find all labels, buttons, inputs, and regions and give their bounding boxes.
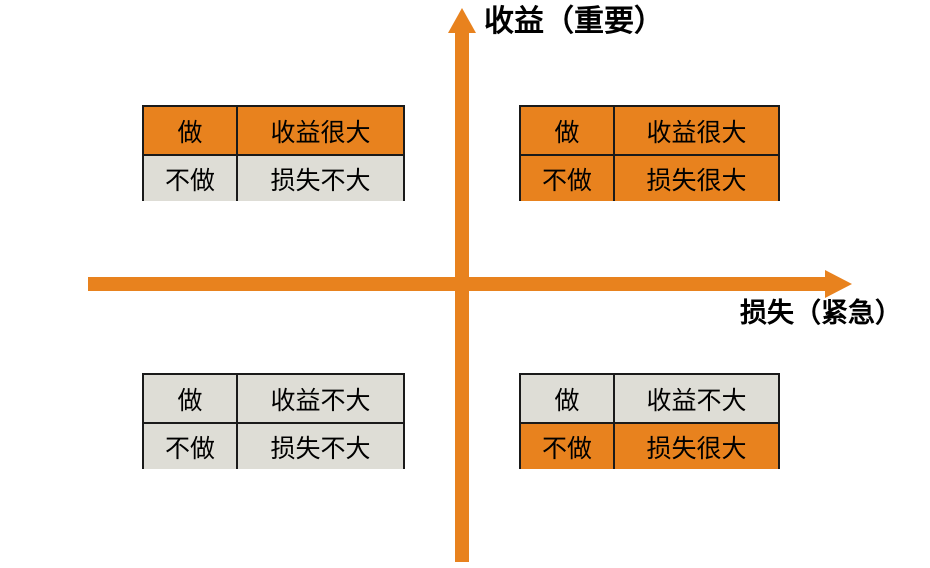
- quadrant-table-bottom-left: 做 收益不大 不做 损失不大: [142, 373, 405, 469]
- y-axis-line: [455, 22, 469, 562]
- table-row: 不做 损失很大: [521, 422, 778, 469]
- y-axis-arrowhead: [448, 8, 476, 33]
- action-cell: 做: [144, 375, 238, 422]
- outcome-cell: 损失不大: [238, 424, 403, 469]
- table-row: 不做 损失很大: [521, 154, 778, 201]
- outcome-cell: 收益不大: [238, 375, 403, 422]
- action-cell: 不做: [144, 424, 238, 469]
- table-row: 不做 损失不大: [144, 154, 403, 201]
- action-cell: 不做: [521, 156, 615, 201]
- outcome-cell: 损失不大: [238, 156, 403, 201]
- quadrant-table-bottom-right: 做 收益不大 不做 损失很大: [519, 373, 780, 469]
- quadrant-table-top-left: 做 收益很大 不做 损失不大: [142, 105, 405, 201]
- action-cell: 不做: [521, 424, 615, 469]
- quadrant-table-top-right: 做 收益很大 不做 损失很大: [519, 105, 780, 201]
- table-row: 做 收益很大: [521, 107, 778, 154]
- action-cell: 不做: [144, 156, 238, 201]
- x-axis-arrowhead: [825, 270, 852, 298]
- outcome-cell: 收益很大: [238, 107, 403, 154]
- outcome-cell: 损失很大: [615, 156, 778, 201]
- action-cell: 做: [144, 107, 238, 154]
- action-cell: 做: [521, 375, 615, 422]
- y-axis-title: 收益（重要）: [484, 4, 664, 40]
- outcome-cell: 损失很大: [615, 424, 778, 469]
- table-row: 做 收益不大: [521, 375, 778, 422]
- axes-group: [0, 0, 930, 568]
- outcome-cell: 收益不大: [615, 375, 778, 422]
- action-cell: 做: [521, 107, 615, 154]
- x-axis-title: 损失（紧急）: [740, 297, 902, 330]
- table-row: 做 收益不大: [144, 375, 403, 422]
- table-row: 不做 损失不大: [144, 422, 403, 469]
- table-row: 做 收益很大: [144, 107, 403, 154]
- x-axis-line: [88, 277, 828, 291]
- outcome-cell: 收益很大: [615, 107, 778, 154]
- decision-matrix-diagram: 收益（重要） 损失（紧急） 做 收益很大 不做 损失不大 做 收益很大 不做 损…: [0, 0, 930, 568]
